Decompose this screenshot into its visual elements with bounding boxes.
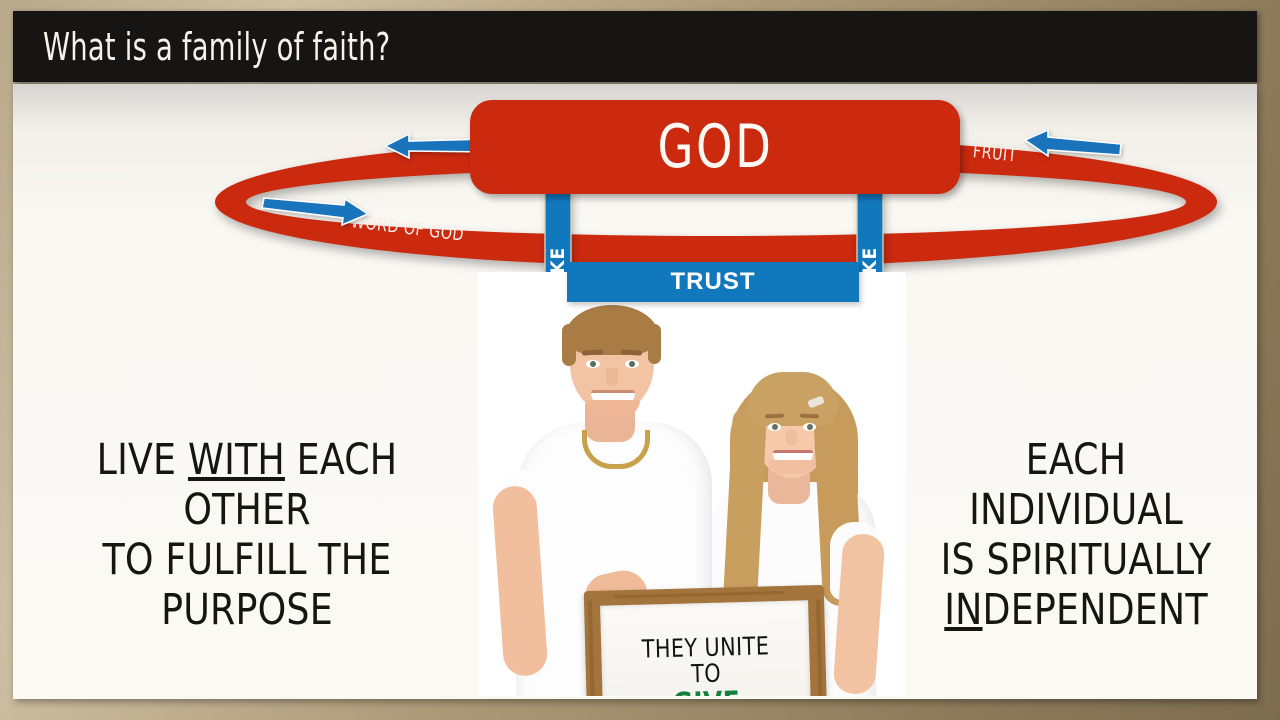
right-statement-line-3: INDEPENDENT: [913, 586, 1238, 636]
left-statement: LIVE WITH EACH OTHER TO FULFILL THE PURP…: [21, 436, 473, 636]
whiteboard-line-3: GIVE: [672, 687, 740, 696]
page-title: What is a family of faith?: [43, 28, 390, 66]
woman-pupil-right: [807, 424, 813, 430]
woman-pupil-left: [772, 424, 778, 430]
ring-label-love: LOVE: [330, 138, 371, 163]
left-line1-a: LIVE: [97, 435, 188, 485]
right-statement-line-2: IS SPIRITUALLY: [913, 536, 1238, 586]
woman-nose: [786, 430, 797, 446]
man-pupil-right: [629, 361, 635, 367]
man-chin: [586, 400, 640, 416]
woman-chin: [768, 460, 816, 474]
god-label: GOD: [657, 117, 773, 177]
right-statement: EACH INDIVIDUAL IS SPIRITUALLY INDEPENDE…: [903, 436, 1249, 636]
trust-bar: TRUST: [567, 262, 859, 302]
god-box: GOD: [470, 100, 960, 194]
left-statement-line-2: TO FULFILL THE: [35, 536, 460, 586]
slide-canvas: What is a family of faith? LOVE WORD OF …: [0, 0, 1280, 720]
man-hair-side-left: [562, 324, 576, 366]
right-line3-b: DEPENDENT: [983, 585, 1208, 635]
left-statement-line-1: LIVE WITH EACH OTHER: [35, 436, 460, 536]
whiteboard-surface: THEY UNITE TO GIVE: [600, 600, 812, 696]
arrow-right-icon: [258, 196, 370, 226]
man-nose: [606, 368, 618, 386]
whiteboard-line-2: TO: [691, 661, 722, 688]
man-hair-side-right: [648, 324, 661, 364]
right-line3-underlined: IN: [944, 585, 982, 635]
couple-photo: THEY UNITE TO GIVE: [478, 272, 906, 696]
right-statement-line-1: EACH INDIVIDUAL: [913, 436, 1238, 536]
slide-title-bar: What is a family of faith?: [13, 11, 1257, 82]
ring-label-fruit: FRUIT: [972, 141, 1018, 166]
woman-hair-top: [748, 372, 838, 426]
man-hair: [565, 305, 659, 355]
man-pupil-left: [590, 361, 596, 367]
arrow-left-icon: [1023, 129, 1123, 157]
slide-content-panel: LOVE WORD OF GOD FRUIT TAKE TAKE: [13, 84, 1257, 699]
left-statement-line-3: PURPOSE: [35, 586, 460, 636]
left-line1-underlined: WITH: [188, 435, 285, 485]
whiteboard: THEY UNITE TO GIVE: [584, 585, 829, 696]
trust-label: TRUST: [671, 268, 756, 296]
